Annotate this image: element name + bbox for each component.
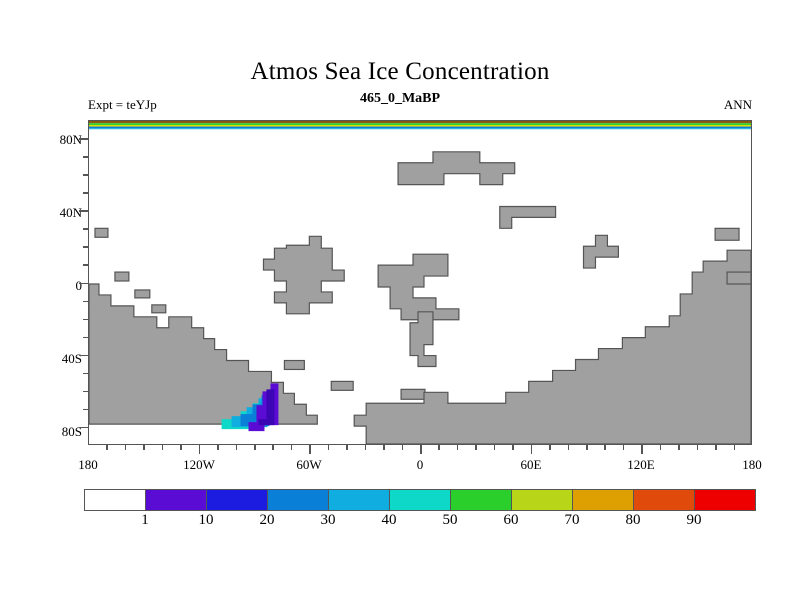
y-minor-tick — [83, 409, 88, 411]
x-minor-tick — [106, 445, 108, 450]
land-island-b — [115, 272, 129, 281]
x-minor-tick — [494, 445, 496, 450]
y-minor-tick — [83, 192, 88, 194]
y-minor-tick — [83, 373, 88, 375]
x-minor-tick — [143, 445, 145, 450]
y-minor-tick — [83, 174, 88, 176]
colorbar-cell-10 — [694, 490, 755, 510]
x-minor-tick — [568, 445, 570, 450]
x-tick-label: 0 — [385, 458, 455, 471]
colorbar-tick-label: 30 — [298, 512, 358, 528]
land-island-a — [95, 228, 108, 237]
x-tick-label: 120W — [164, 458, 234, 471]
colorbar-cell-4 — [328, 490, 389, 510]
colorbar-tick-label: 70 — [542, 512, 602, 528]
x-minor-tick — [236, 445, 238, 450]
colorbar-cell-0 — [85, 490, 145, 510]
colorbar-tick-label: 60 — [481, 512, 541, 528]
colorbar-tick-label: 20 — [237, 512, 297, 528]
y-minor-tick — [83, 301, 88, 303]
y-tick-label: 0 — [38, 279, 82, 292]
colorbar-cell-9 — [633, 490, 694, 510]
x-tick-label: 120E — [606, 458, 676, 471]
page-title: Atmos Sea Ice Concentration — [0, 58, 800, 86]
x-minor-tick — [162, 445, 164, 450]
figure-canvas: Atmos Sea Ice Concentration 465_0_MaBP E… — [0, 0, 800, 600]
x-minor-tick — [328, 445, 330, 450]
colorbar-cell-1 — [145, 490, 206, 510]
x-minor-tick — [734, 445, 736, 450]
x-minor-tick — [697, 445, 699, 450]
y-minor-tick — [83, 156, 88, 158]
x-minor-tick — [678, 445, 680, 450]
colorbar-cell-6 — [450, 490, 511, 510]
x-minor-tick — [383, 445, 385, 450]
x-minor-tick — [125, 445, 127, 450]
colorbar — [84, 489, 756, 511]
colorbar-tick-label: 40 — [359, 512, 419, 528]
x-minor-tick — [512, 445, 514, 450]
colorbar-cell-5 — [389, 490, 450, 510]
y-minor-tick — [83, 337, 88, 339]
x-minor-tick — [291, 445, 293, 450]
y-major-tick — [79, 210, 88, 212]
y-axis: 80N 40N 0 40S 80S — [0, 0, 82, 600]
x-minor-tick — [586, 445, 588, 450]
x-minor-tick — [549, 445, 551, 450]
x-minor-tick — [272, 445, 274, 450]
colorbar-tick-label: 10 — [176, 512, 236, 528]
x-tick-label: 180 — [717, 458, 787, 471]
x-major-tick — [199, 445, 201, 454]
x-minor-tick — [623, 445, 625, 450]
x-major-tick — [309, 445, 311, 454]
x-minor-tick — [365, 445, 367, 450]
x-minor-tick — [402, 445, 404, 450]
land-east-block-a — [715, 228, 739, 240]
land-island-g — [401, 389, 425, 399]
north-pole-color-band — [89, 121, 751, 129]
x-minor-tick — [604, 445, 606, 450]
colorbar-tick-label: 80 — [603, 512, 663, 528]
y-major-tick — [79, 427, 88, 429]
colorbar-tick-label: 1 — [115, 512, 175, 528]
y-tick-label: 40S — [38, 352, 82, 365]
colorbar-cell-3 — [267, 490, 328, 510]
colorbar-tick-label: 90 — [664, 512, 724, 528]
y-major-tick — [79, 355, 88, 357]
season-label: ANN — [0, 97, 752, 113]
y-major-tick — [79, 283, 88, 285]
land-east-block-b — [727, 272, 751, 284]
x-minor-tick — [438, 445, 440, 450]
y-tick-label: 80S — [38, 425, 82, 438]
x-minor-tick — [715, 445, 717, 450]
x-major-tick — [641, 445, 643, 454]
y-major-tick — [79, 138, 88, 140]
x-minor-tick — [180, 445, 182, 450]
x-major-tick — [420, 445, 422, 454]
x-minor-tick — [475, 445, 477, 450]
land-island-e — [284, 361, 304, 370]
y-minor-tick — [83, 228, 88, 230]
x-minor-tick — [660, 445, 662, 450]
map-plot-area — [88, 120, 752, 445]
x-minor-tick — [217, 445, 219, 450]
y-minor-tick — [83, 264, 88, 266]
y-minor-tick — [83, 246, 88, 248]
land-island-f — [331, 381, 353, 390]
map-svg — [89, 121, 751, 444]
x-tick-label: 180 — [53, 458, 123, 471]
x-minor-tick — [346, 445, 348, 450]
land-equatorial-west — [263, 236, 344, 314]
x-major-tick — [531, 445, 533, 454]
colorbar-tick-label: 50 — [420, 512, 480, 528]
land-island-d — [152, 305, 166, 313]
y-minor-tick — [83, 319, 88, 321]
y-tick-label: 40N — [38, 206, 82, 219]
colorbar-cell-8 — [572, 490, 633, 510]
land-island-c — [135, 290, 150, 298]
x-tick-label: 60E — [496, 458, 566, 471]
x-tick-label: 60W — [274, 458, 344, 471]
y-minor-tick — [83, 391, 88, 393]
y-tick-label: 80N — [38, 133, 82, 146]
x-minor-tick — [254, 445, 256, 450]
x-minor-tick — [457, 445, 459, 450]
colorbar-cell-7 — [511, 490, 572, 510]
colorbar-cell-2 — [206, 490, 267, 510]
